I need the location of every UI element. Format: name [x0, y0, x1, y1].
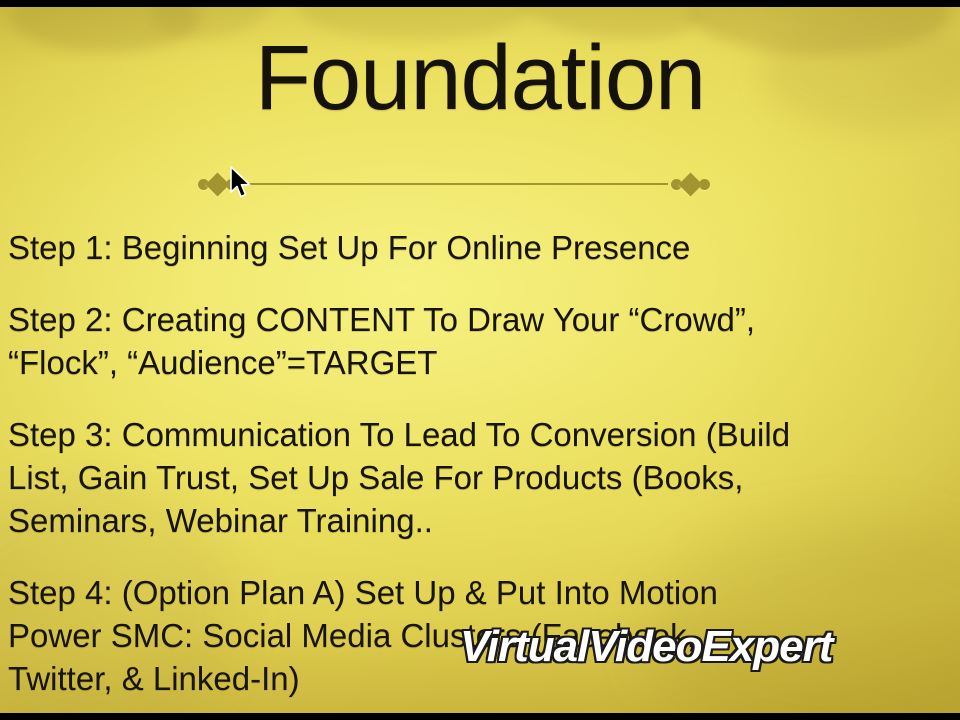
ornament-diamond-icon	[678, 172, 702, 196]
step-line: Step 1: Beginning Set Up For Online Pres…	[8, 226, 960, 269]
watermark-text: VirtualVideoExpert	[460, 622, 832, 672]
ornament-rule	[240, 183, 668, 185]
page-title: Foundation	[0, 32, 960, 124]
step-item: Step 2: Creating CONTENT To Draw Your “C…	[8, 298, 960, 384]
ornament-diamond-icon	[205, 172, 229, 196]
step-item: Step 1: Beginning Set Up For Online Pres…	[8, 226, 960, 269]
ornamental-divider	[198, 173, 710, 195]
step-item: Step 3: Communication To Lead To Convers…	[8, 413, 960, 542]
step-line: Step 3: Communication To Lead To Convers…	[8, 413, 960, 456]
letterbox-bar-top	[0, 0, 960, 7]
letterbox-bar-bottom	[0, 713, 960, 720]
step-line: Step 2: Creating CONTENT To Draw Your “C…	[8, 298, 960, 341]
step-line: Step 4: (Option Plan A) Set Up & Put Int…	[8, 571, 960, 614]
step-line: Seminars, Webinar Training..	[8, 499, 960, 542]
step-line: List, Gain Trust, Set Up Sale For Produc…	[8, 456, 960, 499]
slide-canvas: Foundation Step 1: Beginning Set Up For …	[0, 0, 960, 720]
step-line: “Flock”, “Audience”=TARGET	[8, 341, 960, 384]
